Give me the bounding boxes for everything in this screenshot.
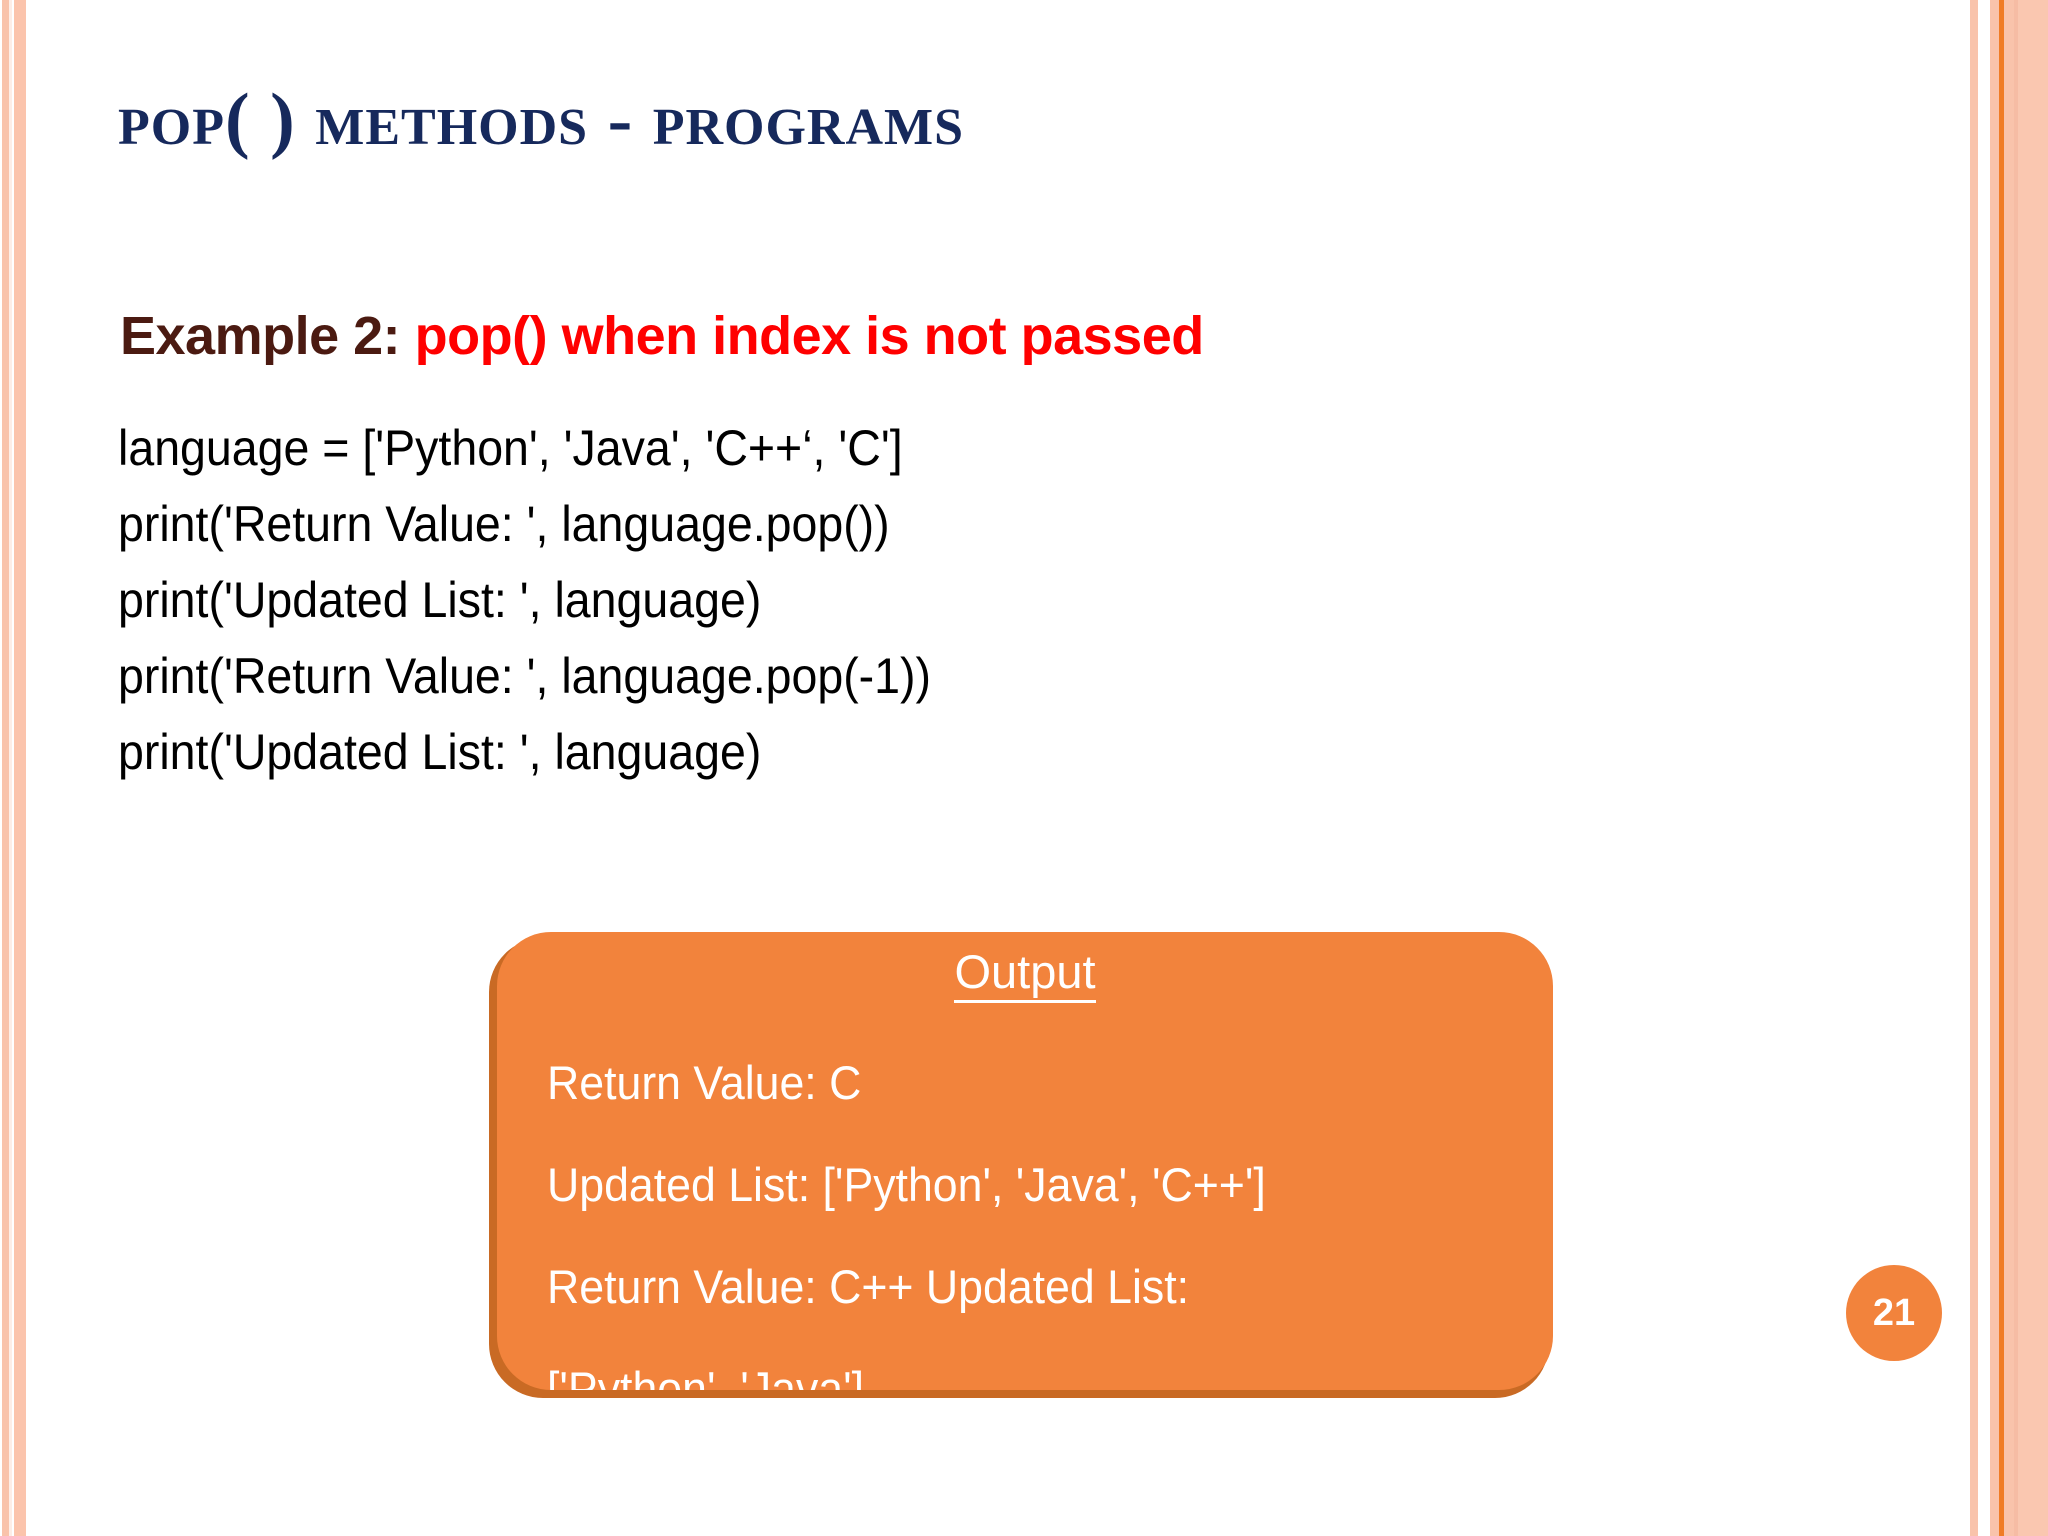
page-title: Pop( ) Methods - Programs xyxy=(118,78,964,163)
left-border-stripes xyxy=(0,0,30,1536)
page-number-badge: 21 xyxy=(1846,1265,1942,1361)
code-line: print('Return Value: ', language.pop()) xyxy=(118,486,1327,562)
output-line: ['Python', 'Java'] xyxy=(547,1338,1484,1390)
example-description: pop() when index is not passed xyxy=(415,306,1204,366)
slide-canvas: Pop( ) Methods - Programs Example 2: pop… xyxy=(0,0,2048,1536)
output-text-lines: Return Value: C Updated List: ['Python',… xyxy=(547,1032,1533,1390)
code-block: language = ['Python', 'Java', 'C++‘, 'C'… xyxy=(118,410,1418,790)
output-line: Updated List: ['Python', 'Java', 'C++'] xyxy=(547,1134,1484,1236)
code-line: print('Return Value: ', language.pop(-1)… xyxy=(118,638,1327,714)
output-heading: Output xyxy=(497,944,1553,999)
code-line: language = ['Python', 'Java', 'C++‘, 'C'… xyxy=(118,410,1327,486)
output-panel: Output Return Value: C Updated List: ['P… xyxy=(497,932,1553,1390)
right-border-stripes xyxy=(1958,0,2048,1536)
output-line: Return Value: C++ Updated List: xyxy=(547,1236,1484,1338)
code-line: print('Updated List: ', language) xyxy=(118,714,1327,790)
output-heading-label: Output xyxy=(954,945,1095,1003)
code-line: print('Updated List: ', language) xyxy=(118,562,1327,638)
example-label: Example 2: xyxy=(120,306,400,366)
output-line: Return Value: C xyxy=(547,1032,1484,1134)
example-heading: Example 2: pop() when index is not passe… xyxy=(120,305,1204,367)
